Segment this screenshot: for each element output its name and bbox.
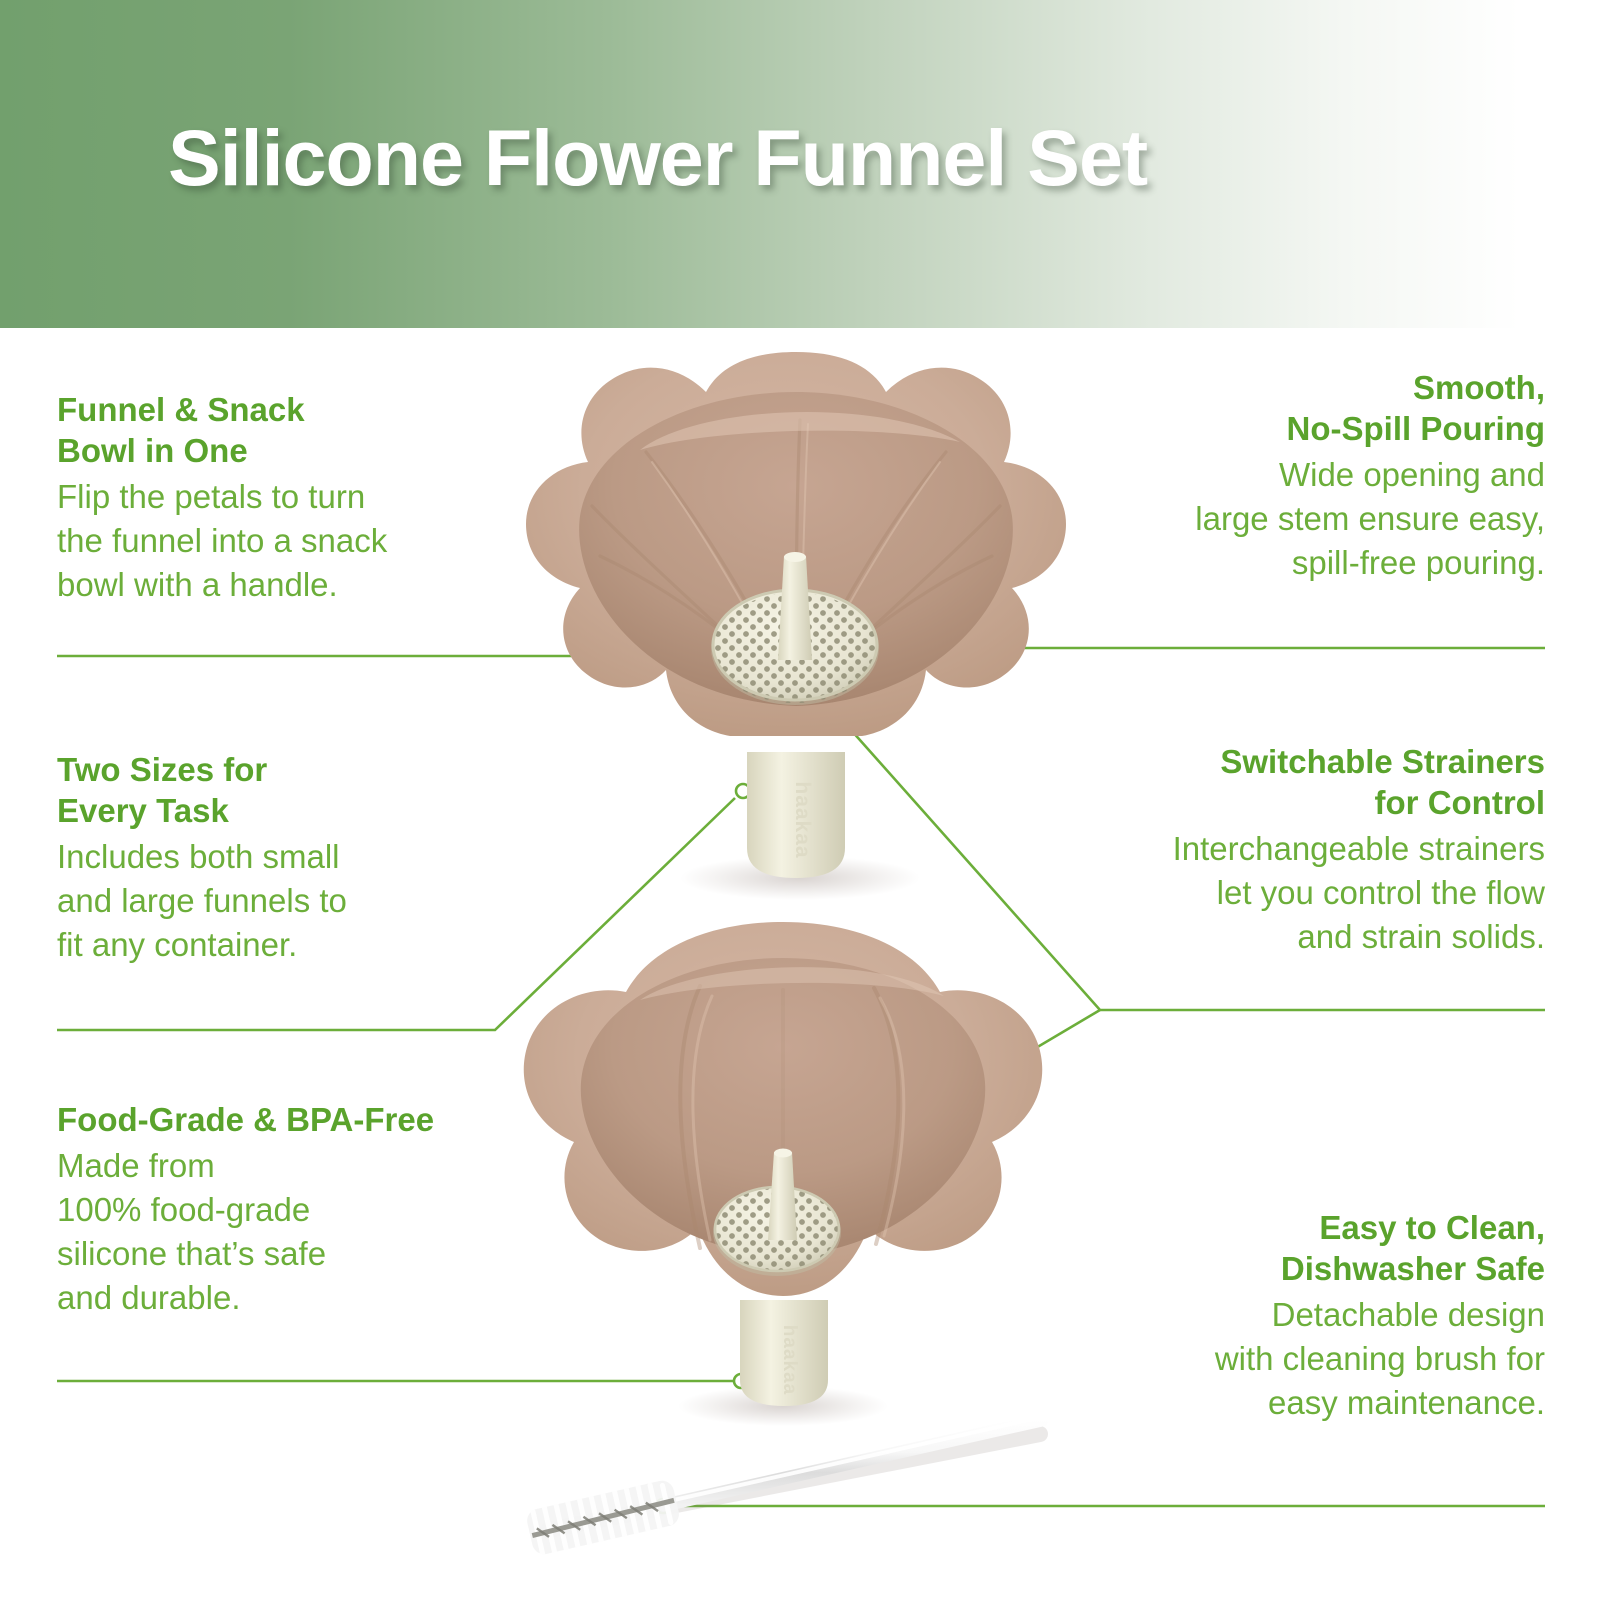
brand-emboss-large: haakaa: [791, 781, 814, 858]
feature-title: Easy to Clean, Dishwasher Safe: [1045, 1208, 1545, 1290]
feature-body: Wide opening and large stem ensure easy,…: [1045, 453, 1545, 585]
funnel-stem-tube-small: haakaa: [740, 1300, 828, 1406]
feature-title: Smooth, No-Spill Pouring: [1045, 368, 1545, 450]
feature-two-sizes: Two Sizes for Every Task Includes both s…: [57, 750, 527, 966]
feature-body: Interchangeable strainers let you contro…: [1045, 827, 1545, 959]
feature-body: Detachable design with cleaning brush fo…: [1045, 1293, 1545, 1425]
funnel-stem-tube-large: haakaa: [747, 752, 845, 878]
feature-body: Made from 100% food-grade silicone that’…: [57, 1144, 557, 1320]
feature-switchable-strainers: Switchable Strainers for Control Interch…: [1045, 742, 1545, 958]
feature-easy-to-clean: Easy to Clean, Dishwasher Safe Detachabl…: [1045, 1208, 1545, 1424]
infographic-canvas: Silicone Flower Funnel Set: [0, 0, 1600, 1600]
feature-funnel-snack-bowl: Funnel & Snack Bowl in One Flip the peta…: [57, 390, 527, 606]
brush-handle: [665, 1420, 1042, 1505]
large-flower-funnel: haakaa: [526, 352, 1066, 900]
cleaning-brush: [524, 1417, 1042, 1561]
brand-emboss-small: haakaa: [779, 1325, 800, 1395]
feature-title: Switchable Strainers for Control: [1045, 742, 1545, 824]
feature-body: Includes both small and large funnels to…: [57, 835, 527, 967]
feature-title: Food-Grade & BPA-Free: [57, 1100, 557, 1141]
feature-smooth-no-spill-pouring: Smooth, No-Spill Pouring Wide opening an…: [1045, 368, 1545, 584]
brush-bristle-head: [524, 1475, 682, 1561]
feature-title: Funnel & Snack Bowl in One: [57, 390, 527, 472]
feature-food-grade-bpa-free: Food-Grade & BPA-Free Made from 100% foo…: [57, 1100, 557, 1319]
feature-body: Flip the petals to turn the funnel into …: [57, 475, 527, 607]
small-flower-funnel: haakaa: [524, 922, 1042, 1426]
feature-title: Two Sizes for Every Task: [57, 750, 527, 832]
